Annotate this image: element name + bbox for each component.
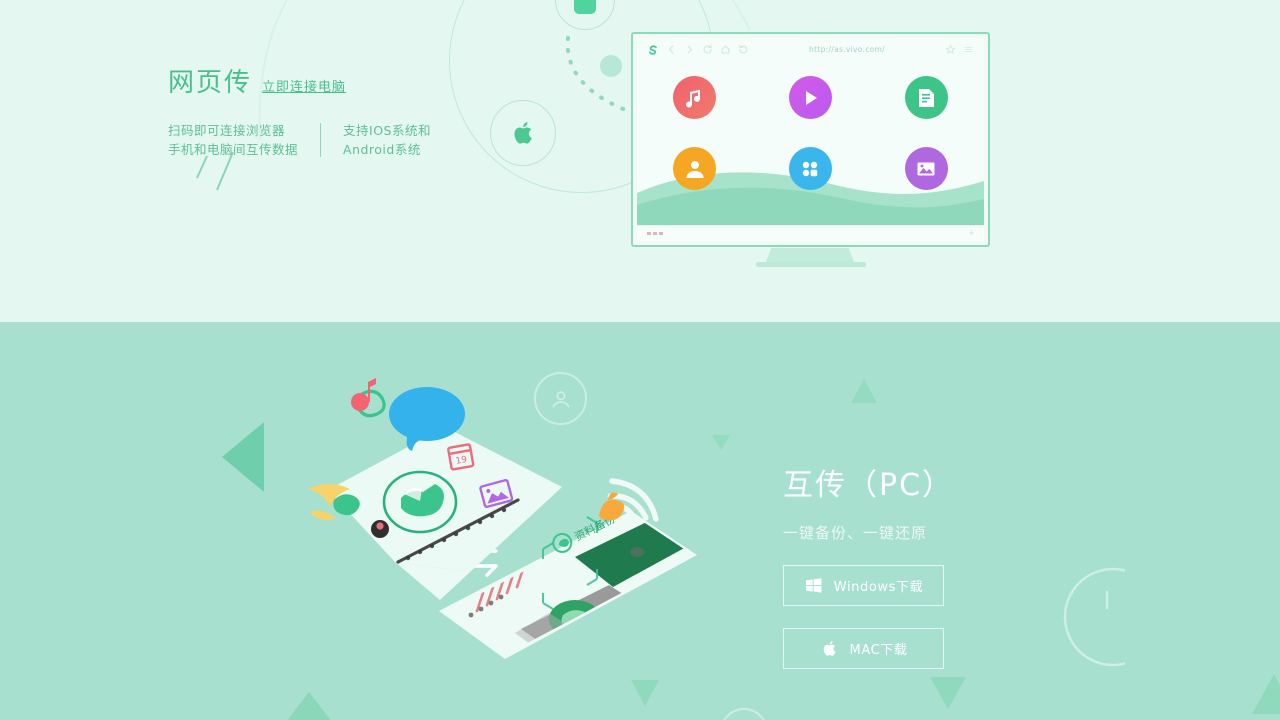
url-text[interactable]: http://as.vivo.com/ — [756, 45, 938, 54]
connect-pc-link[interactable]: 立即连接电脑 — [262, 76, 346, 95]
app-icon-apps[interactable] — [789, 147, 832, 190]
home-icon[interactable] — [720, 44, 731, 55]
headline-row: 网页传 立即连接电脑 — [168, 62, 431, 99]
subtitle-left-line2: 手机和电脑间互传数据 — [168, 140, 298, 159]
subtitle-left: 扫码即可连接浏览器 手机和电脑间互传数据 — [168, 121, 298, 159]
app-icon-gallery[interactable] — [905, 147, 948, 190]
monitor-illustration: http://as.vivo.com/ — [631, 32, 990, 247]
subtitle-row: 扫码即可连接浏览器 手机和电脑间互传数据 支持IOS系统和 Android系统 — [168, 121, 431, 159]
subtitle-divider — [320, 123, 321, 157]
refresh-icon[interactable] — [702, 44, 713, 55]
apple-logo-circle — [490, 100, 556, 166]
apple-logo-icon — [820, 639, 839, 658]
gear-ring-icon — [720, 708, 768, 720]
decorative-triangle-bottom-mid — [631, 680, 659, 706]
bookmark-star-icon[interactable] — [945, 44, 956, 55]
subtitle-left-line1: 扫码即可连接浏览器 — [168, 121, 298, 140]
browser-taskbar: + — [637, 225, 984, 241]
apps-grid-icon — [798, 157, 822, 181]
svg-text:19: 19 — [455, 455, 468, 467]
decorative-triangle-left — [222, 422, 264, 492]
windows-logo-icon — [804, 576, 823, 595]
rounded-square-icon — [574, 0, 596, 14]
subtitle-right: 支持IOS系统和 Android系统 — [343, 121, 431, 159]
page-title: 网页传 — [168, 62, 252, 99]
app-icon-video[interactable] — [789, 76, 832, 119]
undo-icon[interactable] — [738, 44, 749, 55]
taskbar-dots-icon — [647, 232, 663, 236]
top-section: 网页传 立即连接电脑 扫码即可连接浏览器 手机和电脑间互传数据 支持IOS系统和… — [0, 0, 1280, 322]
headline-block: 网页传 立即连接电脑 扫码即可连接浏览器 手机和电脑间互传数据 支持IOS系统和… — [168, 62, 431, 159]
document-icon — [914, 86, 938, 110]
mac-download-button[interactable]: MAC下载 — [783, 628, 944, 669]
decorative-triangle-mid — [712, 435, 730, 450]
decorative-triangle-edge-right — [1252, 674, 1280, 714]
page-root: 网页传 立即连接电脑 扫码即可连接浏览器 手机和电脑间互传数据 支持IOS系统和… — [0, 0, 1280, 720]
windows-download-button[interactable]: Windows下载 — [783, 565, 944, 606]
taskbar-plus-icon[interactable]: + — [969, 229, 974, 238]
app-icons-area — [637, 60, 984, 225]
monitor-screen: http://as.vivo.com/ — [637, 38, 984, 241]
decorative-triangle-bottom-left — [263, 692, 355, 720]
decorative-triangle-bottom-right — [930, 677, 966, 709]
monitor-neck — [766, 248, 854, 262]
phone-illustration: 资料备份 — [425, 507, 715, 667]
apple-logo-icon — [509, 119, 537, 147]
app-icon-documents[interactable] — [905, 76, 948, 119]
browser-toolbar: http://as.vivo.com/ — [637, 38, 984, 60]
decorative-triangle-top-right — [851, 379, 877, 403]
promo-subtitle: 一键备份、一键还原 — [783, 522, 1043, 543]
person-icon — [683, 157, 707, 181]
app-icon-music[interactable] — [673, 76, 716, 119]
play-triangle-icon — [798, 86, 822, 110]
back-icon[interactable] — [666, 44, 677, 55]
subtitle-right-line1: 支持IOS系统和 — [343, 121, 431, 140]
vivo-s-logo-icon — [647, 43, 659, 55]
forward-icon[interactable] — [684, 44, 695, 55]
music-note-icon — [683, 86, 707, 110]
bottom-section: 19 — [0, 322, 1280, 720]
hamburger-menu-icon[interactable] — [963, 44, 974, 55]
promo-block: 互传（PC） 一键备份、一键还原 Windows下载 MAC下载 — [783, 460, 1043, 669]
app-icon-grid — [637, 76, 984, 190]
app-icon-contacts[interactable] — [673, 147, 716, 190]
windows-download-label: Windows下载 — [834, 576, 923, 595]
monitor-base — [756, 262, 866, 267]
decorative-partial-circle — [1045, 562, 1125, 672]
photo-image-icon — [914, 157, 938, 181]
subtitle-right-line2: Android系统 — [343, 140, 431, 159]
promo-title: 互传（PC） — [783, 460, 1043, 504]
mac-download-label: MAC下载 — [850, 639, 908, 658]
